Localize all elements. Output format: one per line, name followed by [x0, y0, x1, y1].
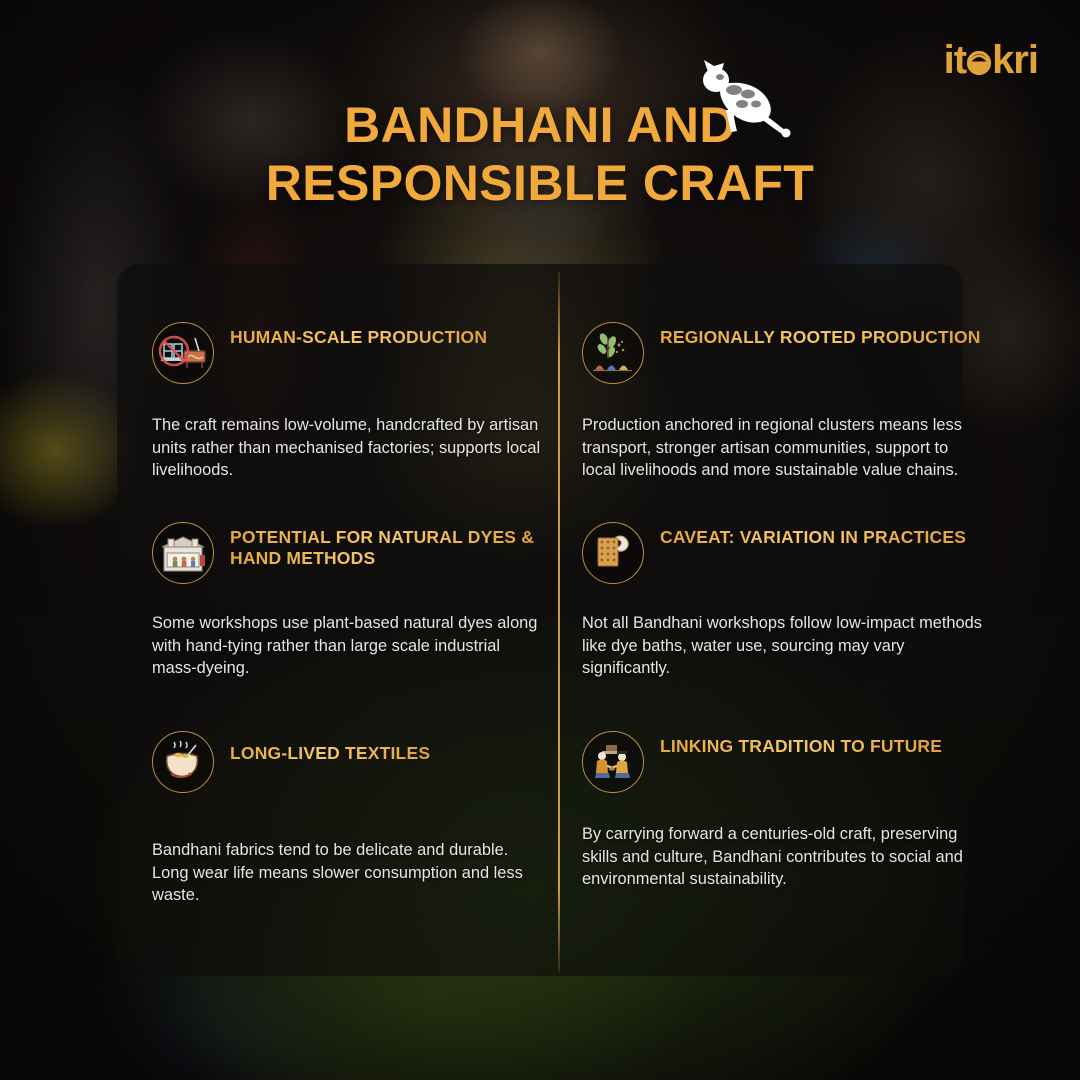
logo-text-left: it	[944, 40, 966, 80]
no-factory-icon	[152, 322, 214, 384]
itokri-logo[interactable]: it kri	[944, 40, 1038, 80]
leaves-and-dye-powders-icon	[582, 322, 644, 384]
artisan-workshop-building-icon	[152, 522, 214, 584]
logo-text-right: kri	[992, 40, 1038, 80]
card-linking-tradition-to-future: LINKING TRADITION TO FUTURE By carrying …	[582, 731, 982, 891]
card-human-scale-production: HUMAN-SCALE PRODUCTION The craft remains…	[152, 322, 542, 482]
basket-icon	[966, 47, 992, 73]
cat-illustration-icon	[690, 54, 800, 144]
card-body: By carrying forward a centuries-old craf…	[582, 823, 982, 891]
two-artisans-icon	[582, 731, 644, 793]
card-title: HUMAN-SCALE PRODUCTION	[230, 322, 487, 348]
card-caveat-variation-in-practices: CAVEAT: VARIATION IN PRACTICES Not all B…	[582, 522, 982, 680]
card-regionally-rooted-production: REGIONALLY ROOTED PRODUCTION Production …	[582, 322, 982, 482]
title-line-2: RESPONSIBLE CRAFT	[0, 154, 1080, 212]
card-body: Bandhani fabrics tend to be delicate and…	[152, 839, 542, 907]
card-title: LINKING TRADITION TO FUTURE	[660, 731, 942, 757]
card-title: REGIONALLY ROOTED PRODUCTION	[660, 322, 981, 348]
card-body: Production anchored in regional clusters…	[582, 414, 982, 482]
card-long-lived-textiles: LONG-LIVED TEXTILES Bandhani fabrics ten…	[152, 731, 542, 907]
hand-holding-fabric-swatch-icon	[582, 522, 644, 584]
card-body: Not all Bandhani workshops follow low-im…	[582, 612, 982, 680]
card-title: POTENTIAL FOR NATURAL DYES & HAND METHOD…	[230, 522, 542, 570]
steaming-dye-pot-icon	[152, 731, 214, 793]
page-title: BANDHANI AND RESPONSIBLE CRAFT	[0, 96, 1080, 212]
card-body: Some workshops use plant-based natural d…	[152, 612, 542, 680]
card-title: LONG-LIVED TEXTILES	[230, 731, 430, 764]
card-title: CAVEAT: VARIATION IN PRACTICES	[660, 522, 966, 548]
card-potential-for-natural-dyes: POTENTIAL FOR NATURAL DYES & HAND METHOD…	[152, 522, 542, 680]
column-divider	[558, 272, 560, 972]
card-body: The craft remains low-volume, handcrafte…	[152, 414, 542, 482]
title-line-1: BANDHANI AND	[0, 96, 1080, 154]
